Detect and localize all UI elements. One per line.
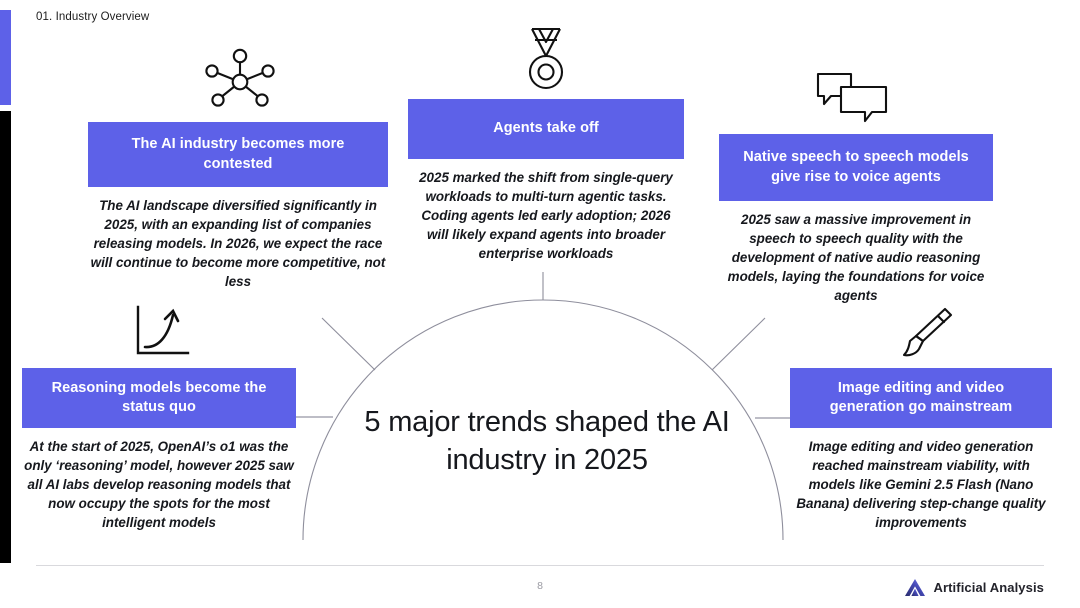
left-edge-accent-bar — [0, 10, 11, 105]
brand-name: Artificial Analysis — [933, 580, 1044, 595]
trend-title-reasoning: Reasoning models become the status quo — [22, 368, 296, 428]
trend-card-contested: The AI industry becomes more contested T… — [88, 122, 388, 291]
left-edge-black-bar — [0, 111, 11, 563]
section-header-label: 01. Industry Overview — [36, 11, 149, 23]
trend-body-reasoning: At the start of 2025, OpenAI’s o1 was th… — [22, 428, 296, 532]
trend-title-contested: The AI industry becomes more contested — [88, 122, 388, 187]
trend-title-image-video: Image editing and video generation go ma… — [790, 368, 1052, 428]
speech-bubbles-icon — [815, 71, 889, 125]
network-nodes-icon — [200, 46, 280, 108]
medal-icon — [519, 26, 573, 92]
brand-lockup: Artificial Analysis — [904, 578, 1044, 597]
growth-chart-icon — [130, 303, 196, 361]
trend-body-contested: The AI landscape diversified significant… — [88, 187, 388, 291]
trend-body-speech: 2025 saw a massive improvement in speech… — [719, 201, 993, 305]
trend-card-speech: Native speech to speech models give rise… — [719, 134, 993, 305]
center-headline: 5 major trends shaped the AI industry in… — [352, 404, 742, 479]
trend-body-agents: 2025 marked the shift from single-query … — [408, 159, 684, 263]
trend-card-reasoning: Reasoning models become the status quo A… — [22, 368, 296, 532]
spoke-upper-left — [322, 318, 375, 370]
slide-canvas: 01. Industry Overview The — [0, 0, 1080, 608]
footer-divider — [36, 565, 1044, 566]
spoke-upper-right — [712, 318, 765, 370]
trend-card-agents: Agents take off 2025 marked the shift fr… — [408, 99, 684, 263]
trend-body-image-video: Image editing and video generation reach… — [790, 428, 1052, 532]
trend-title-speech: Native speech to speech models give rise… — [719, 134, 993, 201]
triangle-a-logo-icon — [904, 578, 926, 597]
paint-brush-icon — [895, 305, 955, 363]
trend-title-agents: Agents take off — [408, 99, 684, 159]
trend-card-image-video: Image editing and video generation go ma… — [790, 368, 1052, 532]
